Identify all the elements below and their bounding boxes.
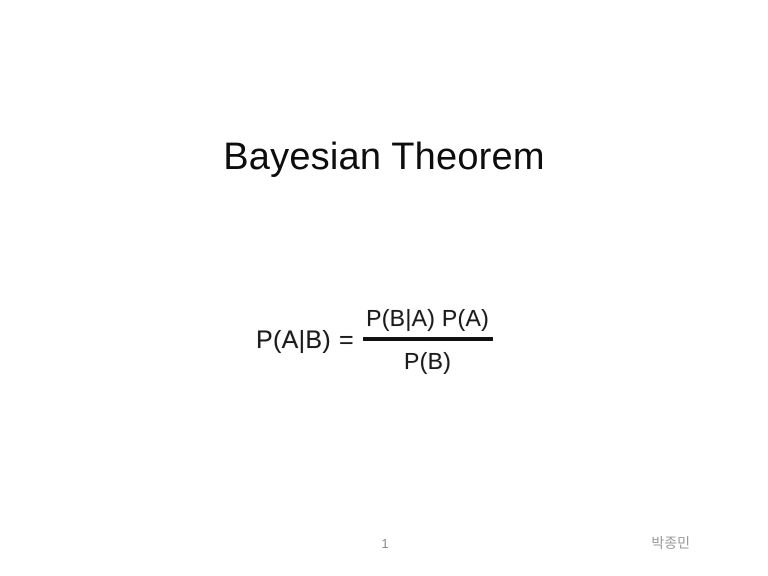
slide-page-number: 1	[355, 536, 415, 552]
formula-equals-sign: =	[339, 328, 354, 353]
slide-author-name: 박종민	[651, 534, 690, 552]
slide-canvas: Bayesian Theorem P(A|B) = P(B|A) P(A) P(…	[0, 0, 768, 576]
formula-denominator: P(B)	[404, 341, 451, 373]
page-title: Bayesian Theorem	[0, 134, 768, 180]
formula-left-hand-side: P(A|B)	[256, 328, 331, 353]
formula-numerator: P(B|A) P(A)	[364, 307, 491, 337]
bayes-formula: P(A|B) = P(B|A) P(A) P(B)	[256, 296, 512, 384]
formula-fraction: P(B|A) P(A) P(B)	[363, 307, 493, 373]
